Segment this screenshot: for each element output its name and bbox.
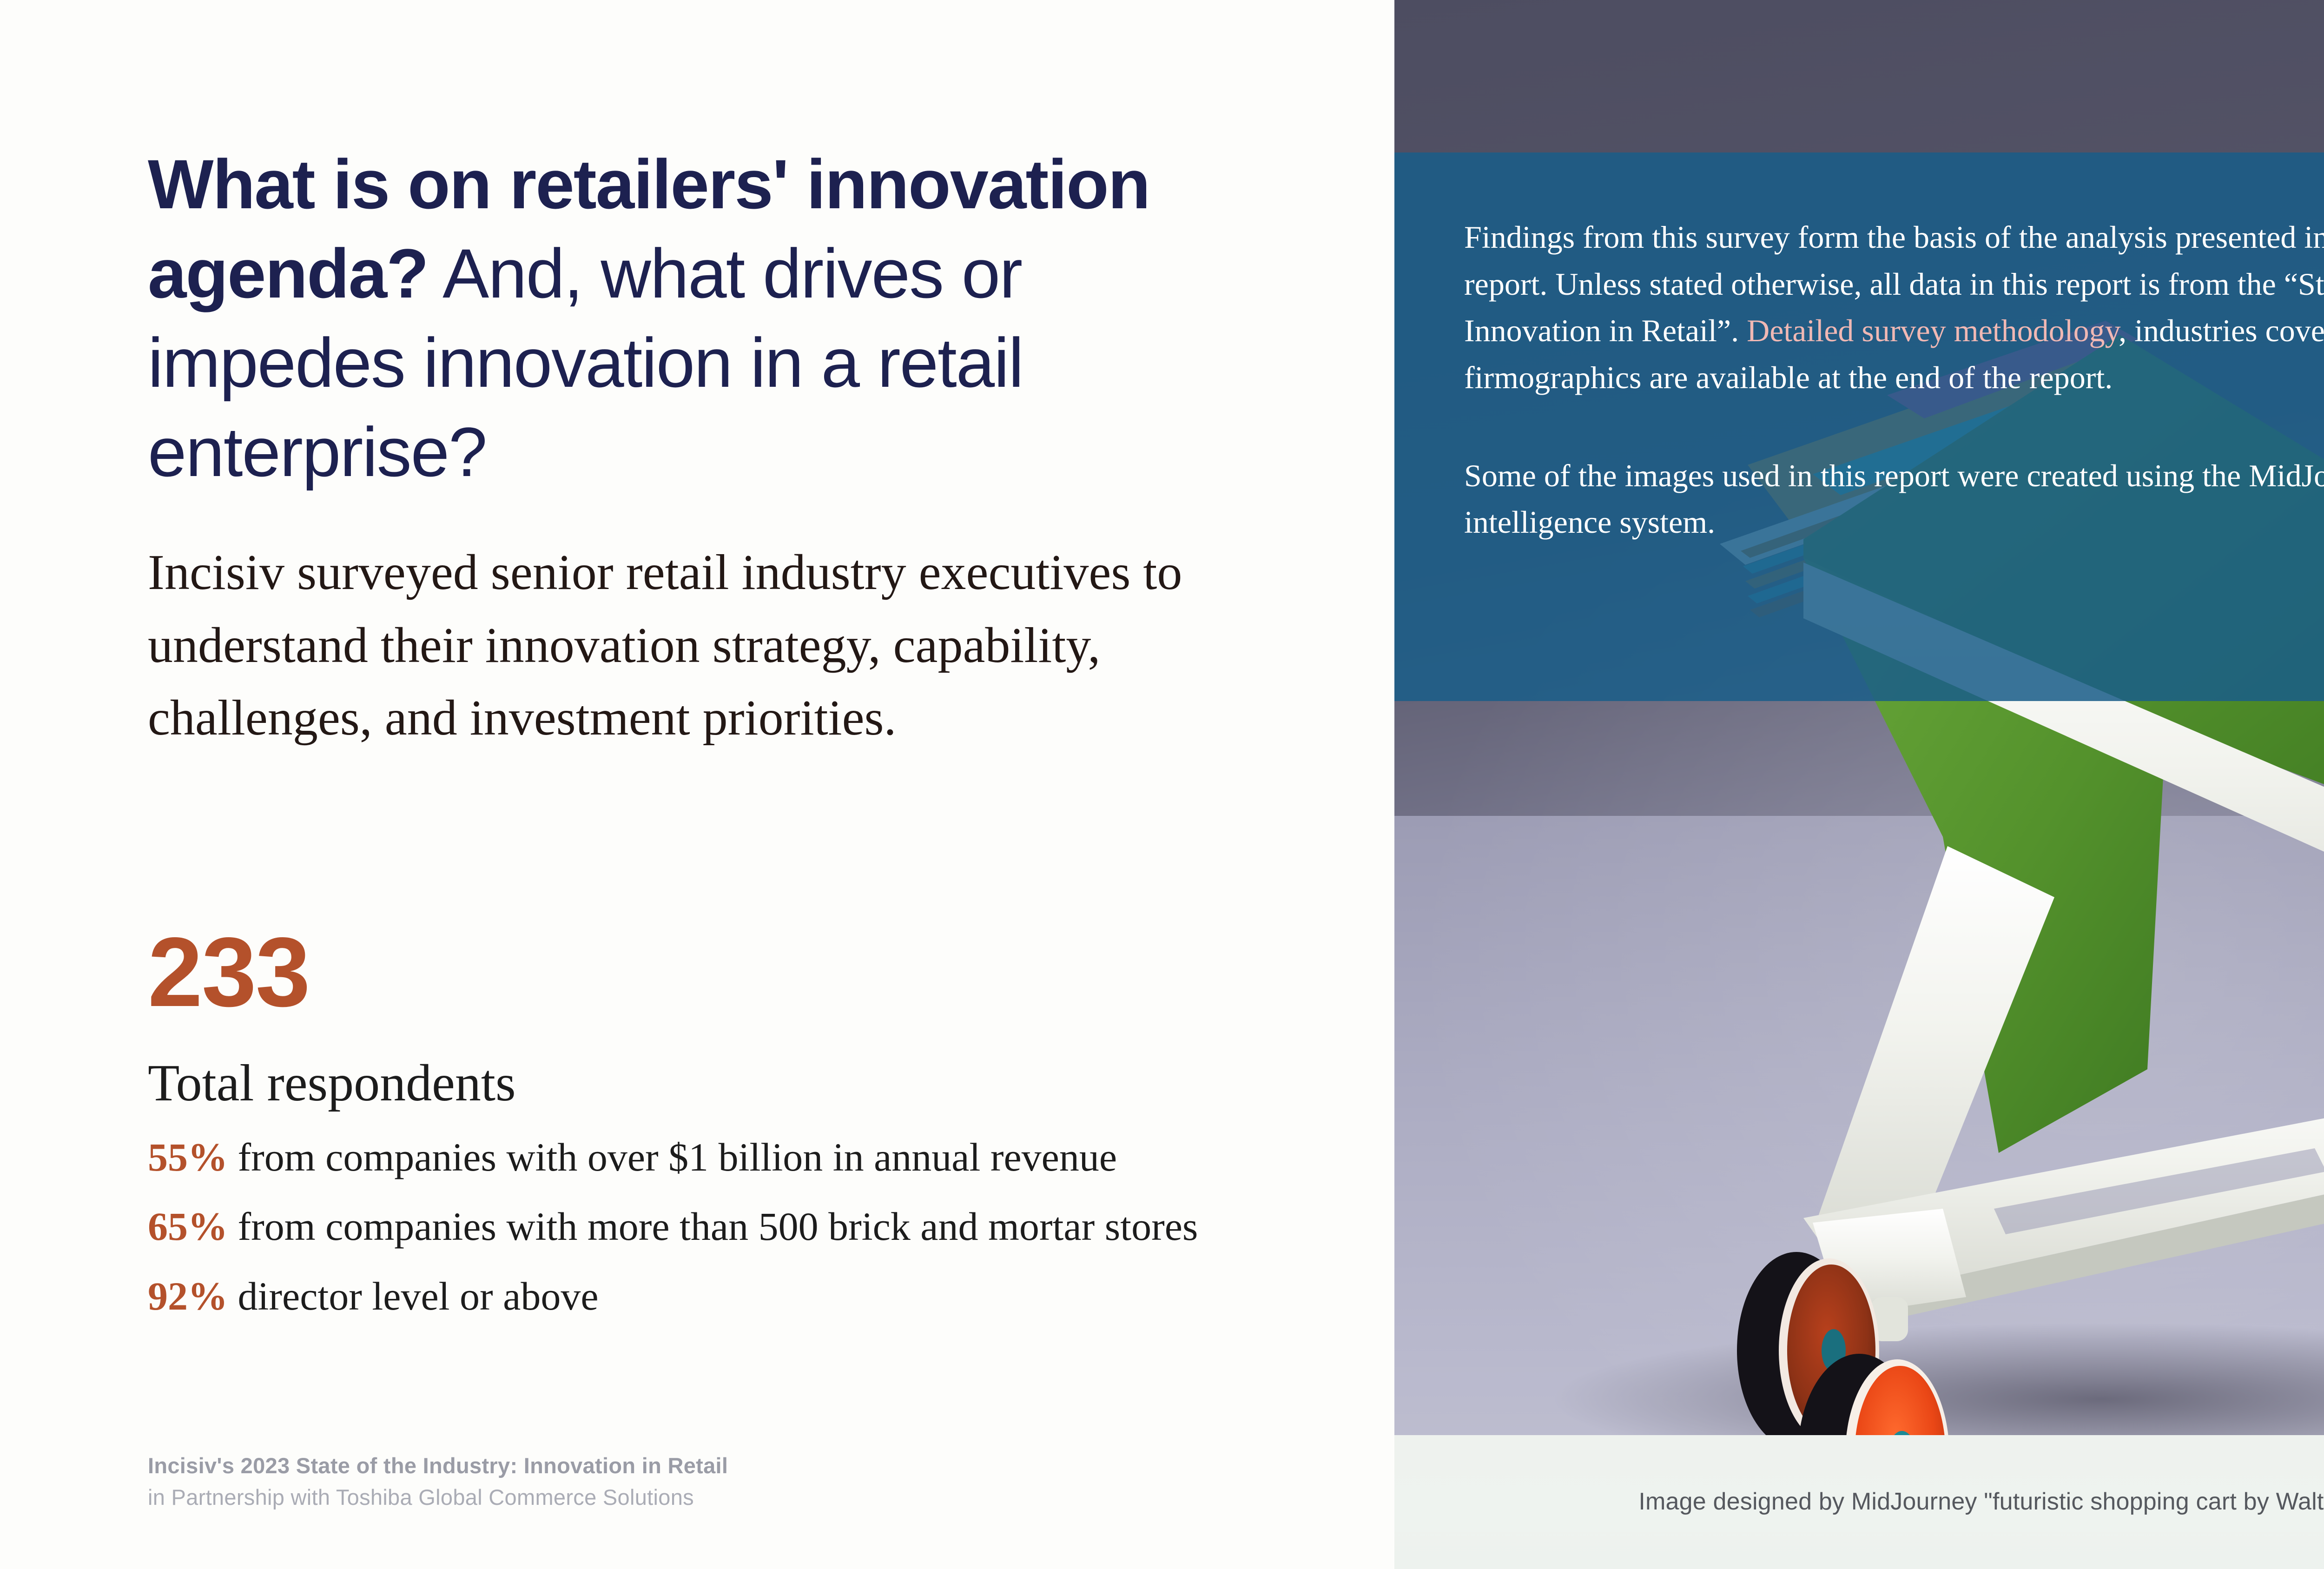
statistics-block: 233 Total respondents 55% from companies… [148, 923, 1263, 1320]
page-title: What is on retailers' innovation agenda?… [148, 139, 1226, 497]
slide-root: What is on retailers' innovation agenda?… [0, 0, 2324, 1569]
stat-percent-revenue: 55% [148, 1135, 228, 1179]
stat-percent-seniority: 92% [148, 1274, 228, 1318]
detailed-survey-methodology-link[interactable]: Detailed survey methodology [1747, 313, 2119, 348]
intro-paragraph: Incisiv surveyed senior retail industry … [148, 536, 1236, 755]
total-respondents-label: Total respondents [148, 1055, 1263, 1112]
stat-line-revenue: 55% from companies with over $1 billion … [148, 1133, 1263, 1181]
stat-text-seniority: director level or above [228, 1274, 599, 1318]
footer-report-title: Incisiv's 2023 State of the Industry: In… [148, 1450, 728, 1482]
right-image-panel: Findings from this survey form the basis… [1394, 0, 2324, 1569]
stat-line-seniority: 92% director level or above [148, 1272, 1263, 1320]
slide-footer: Incisiv's 2023 State of the Industry: In… [148, 1450, 728, 1513]
note-paragraph-1: Findings from this survey form the basis… [1464, 214, 2324, 401]
stat-percent-stores: 65% [148, 1204, 228, 1249]
image-caption-band: Image designed by MidJourney "futuristic… [1394, 1435, 2324, 1569]
stat-text-revenue: from companies with over $1 billion in a… [228, 1135, 1117, 1179]
left-content-panel: What is on retailers' innovation agenda?… [0, 0, 1394, 1569]
total-respondents-number: 233 [148, 923, 1263, 1021]
stat-text-stores: from companies with more than 500 brick … [228, 1204, 1198, 1249]
methodology-note-box: Findings from this survey form the basis… [1394, 152, 2324, 701]
stat-line-stores: 65% from companies with more than 500 br… [148, 1203, 1263, 1251]
image-caption-text: Image designed by MidJourney "futuristic… [1638, 1485, 2324, 1519]
footer-partnership: in Partnership with Toshiba Global Comme… [148, 1482, 728, 1513]
note-paragraph-2: Some of the images used in this report w… [1464, 452, 2324, 546]
